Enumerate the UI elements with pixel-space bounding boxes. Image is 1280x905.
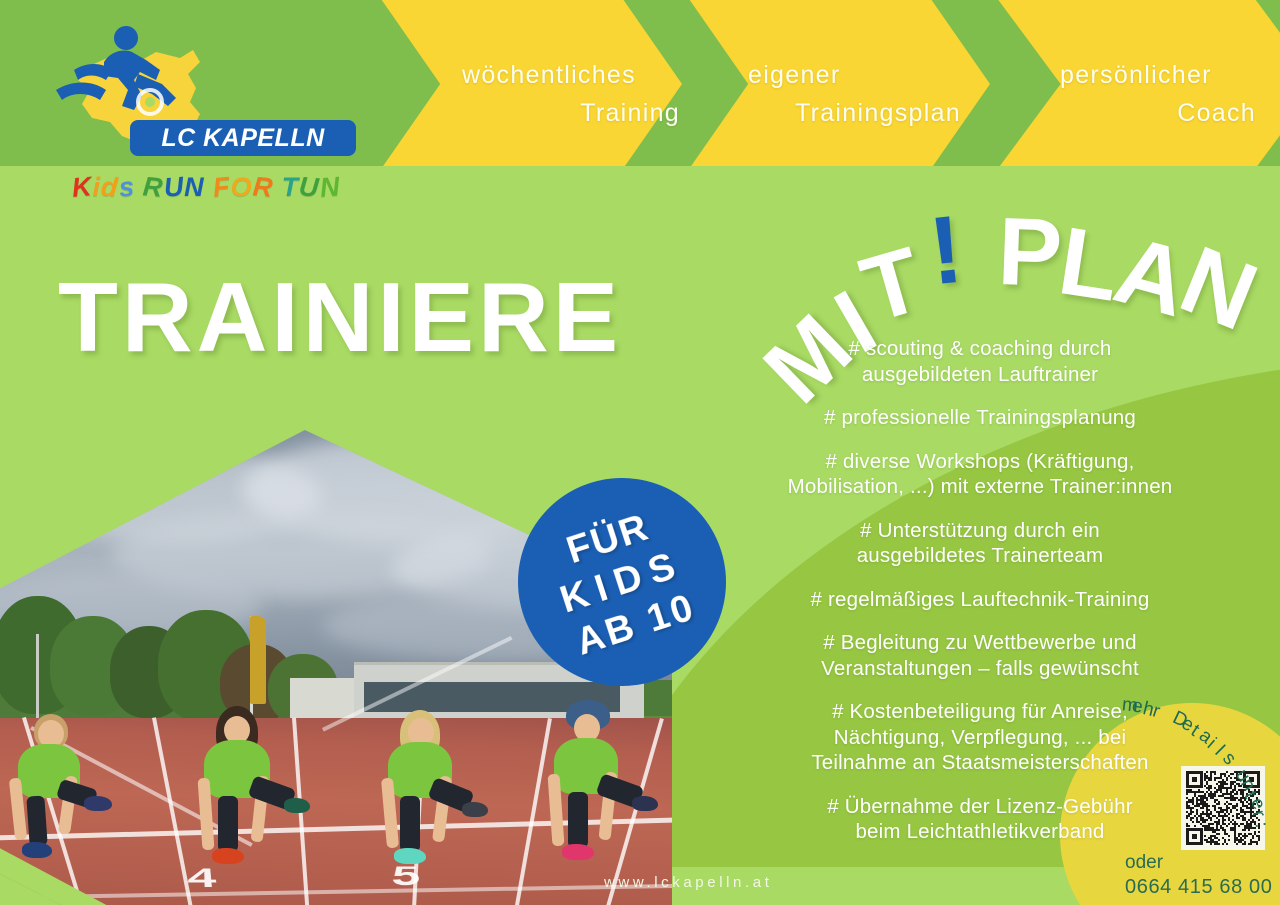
lane-number: 4 xyxy=(185,864,218,895)
benefit-item-line: # Unterstützung durch ein xyxy=(690,518,1270,544)
headline-letter: P xyxy=(996,197,1064,309)
chevron-label-1: wöchentliches Training xyxy=(462,56,680,132)
tagline-letter: O xyxy=(231,172,253,203)
benefit-item-line: Veranstaltungen – falls gewünscht xyxy=(690,656,1270,682)
benefit-item: # diverse Workshops (Kräftigung,Mobilisa… xyxy=(690,449,1270,500)
benefit-item: # Begleitung zu Wettbewerbe undVeranstal… xyxy=(690,630,1270,681)
phone-number[interactable]: 0664 415 68 00 xyxy=(1125,876,1272,899)
photo-pole xyxy=(36,634,39,726)
benefit-item-line: # regelmäßiges Lauftechnik-Training xyxy=(690,587,1270,613)
photo-flag xyxy=(250,616,266,704)
or-label: oder xyxy=(1125,852,1163,874)
headline-exclamation: ! xyxy=(930,196,962,306)
headline-arc-plan: PLAN xyxy=(998,190,1253,300)
chevron-label-1-line-2: Training xyxy=(462,94,680,132)
benefit-item-line: ausgebildeten Lauftrainer xyxy=(690,362,1270,388)
chevron-label-3-line-1: persönlicher xyxy=(1060,56,1256,94)
tagline-letter: s xyxy=(117,171,136,203)
benefit-item-line: ausgebildetes Trainerteam xyxy=(690,543,1270,569)
benefit-item-line: # professionelle Trainingsplanung xyxy=(690,405,1270,431)
benefit-item: # professionelle Trainingsplanung xyxy=(690,405,1270,431)
tagline-letter: N xyxy=(184,172,205,203)
tagline-letter: T xyxy=(282,172,300,203)
lane-number: 5 xyxy=(389,862,422,893)
chevron-label-3: persönlicher Coach xyxy=(1060,56,1256,132)
chevron-label-2: eigener Trainingsplan xyxy=(748,56,961,132)
tagline-letter: F xyxy=(212,171,232,203)
chevron-label-1-line-1: wöchentliches xyxy=(462,56,680,94)
tagline-letter: R xyxy=(251,171,274,204)
club-name-text: LC KAPELLN xyxy=(161,124,324,153)
poster-root: 3 4 5 xyxy=(0,0,1280,905)
headline-arc-mit: MIT xyxy=(770,215,920,320)
benefit-item-line: # scouting & coaching durch xyxy=(690,336,1270,362)
tagline-letter: U xyxy=(298,171,321,204)
kids-run-for-fun-tagline: Kids RUN FOR TUN xyxy=(72,172,340,203)
tagline-letter: U xyxy=(162,171,185,204)
chevron-label-2-line-1: eigener xyxy=(748,56,961,94)
tagline-letter: K xyxy=(71,171,94,204)
benefit-item-line: # diverse Workshops (Kräftigung, xyxy=(690,449,1270,475)
tagline-letter: R xyxy=(142,171,165,204)
details-label-letter: : xyxy=(1250,820,1273,830)
tagline-letter: N xyxy=(318,171,341,204)
tagline-letter: d xyxy=(100,171,120,203)
benefit-item: # Unterstützung durch einausgebildetes T… xyxy=(690,518,1270,569)
benefit-item-line: Mobilisation, ...) mit externe Trainer:i… xyxy=(690,474,1270,500)
club-logo[interactable]: LC KAPELLN xyxy=(30,18,350,158)
headline-letter-exclamation: ! xyxy=(924,195,967,308)
benefit-item: # scouting & coaching durchausgebildeten… xyxy=(690,336,1270,387)
benefit-item-line: # Begleitung zu Wettbewerbe und xyxy=(690,630,1270,656)
benefit-item: # regelmäßiges Lauftechnik-Training xyxy=(690,587,1270,613)
page-title: TRAINIERE xyxy=(58,268,622,366)
details-label-arc: mehr Details unter: xyxy=(1095,700,1275,850)
club-name-badge: LC KAPELLN xyxy=(130,120,356,156)
website-url[interactable]: www.lckapelln.at xyxy=(604,874,772,891)
chevron-label-2-line-2: Trainingsplan xyxy=(748,94,961,132)
chevron-label-3-line-2: Coach xyxy=(1060,94,1256,132)
